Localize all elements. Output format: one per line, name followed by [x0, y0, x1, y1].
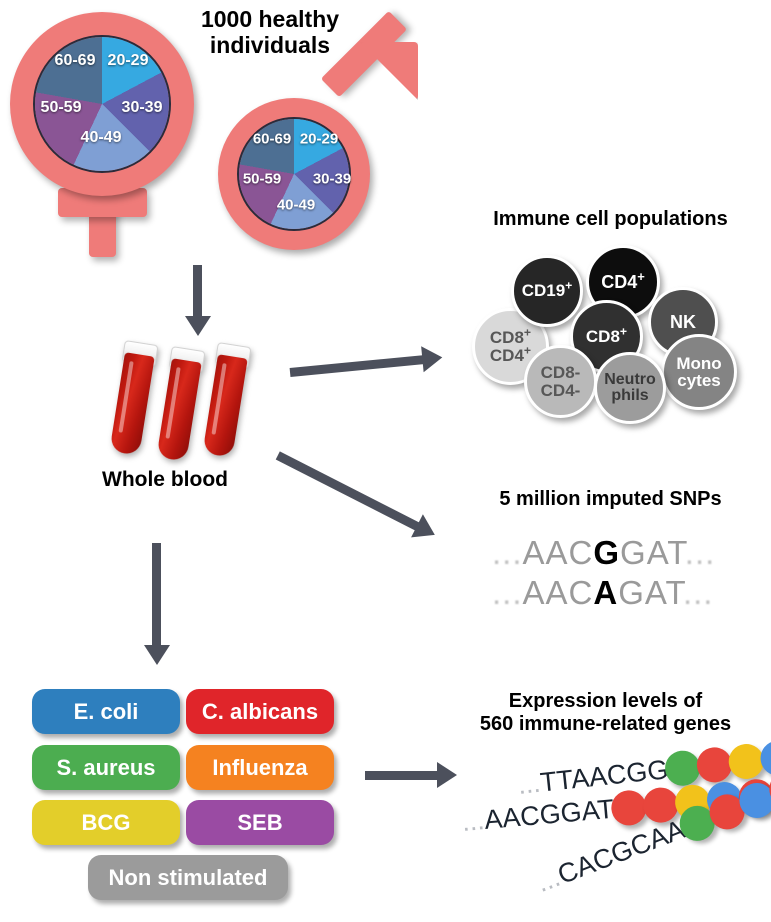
arrow-head [437, 762, 457, 788]
stimulus-bcg[interactable]: BCG [32, 800, 180, 845]
pie-label-50-59: 50-59 [243, 171, 281, 188]
cell-label: Monocytes [676, 355, 721, 390]
page-title: 1000 healthy individuals [170, 6, 370, 59]
pie-label-30-39: 30-39 [122, 99, 163, 117]
stimulus-label: BCG [82, 810, 131, 836]
rna-bases: AACGGAT [483, 794, 615, 835]
pie-label-60-69: 60-69 [55, 52, 96, 70]
arrow-head [144, 645, 170, 665]
pie-label-20-29: 20-29 [300, 131, 338, 148]
expression-title-line2: 560 immune-related genes [440, 713, 771, 736]
snp-pre: AAC [523, 574, 594, 611]
stimulus-influenza[interactable]: Influenza [186, 745, 334, 790]
stimulus-label: Influenza [212, 755, 307, 781]
expression-title-line1: Expression levels of [440, 690, 771, 713]
snp-sequence-row: ...AACGGAT... [492, 534, 715, 572]
page-title-line1: 1000 healthy [170, 6, 370, 32]
arrow-line [365, 771, 443, 780]
stimulus-label: E. coli [74, 699, 139, 725]
rna-sequence: ...AACGGAT [461, 794, 616, 838]
expression-section-title: Expression levels of 560 immune-related … [440, 690, 771, 736]
pie-label-40-49: 40-49 [81, 129, 122, 147]
stimulus-seb[interactable]: SEB [186, 800, 334, 845]
rna-bead [759, 739, 771, 777]
stimulus-label: SEB [237, 810, 282, 836]
cell-label: CD8-CD4- [541, 364, 581, 399]
cell-cd8-cd4-mm: CD8-CD4- [524, 345, 597, 418]
stimulus-label: C. albicans [202, 699, 318, 725]
stimulus-c-albicans[interactable]: C. albicans [186, 689, 334, 734]
stimulus-non-stimulated[interactable]: Non stimulated [88, 855, 288, 900]
arrow-line [290, 354, 429, 376]
whole-blood-label: Whole blood [80, 468, 250, 492]
snp-suffix: ... [683, 574, 714, 611]
pie-label-60-69: 60-69 [253, 131, 291, 148]
page-title-line2: individuals [170, 32, 370, 58]
snp-prefix: ... [492, 534, 523, 571]
cell-label: CD8+CD4+ [490, 329, 531, 364]
snp-allele: A [593, 574, 618, 611]
rna-prefix: ... [461, 805, 486, 837]
snp-allele: G [593, 534, 620, 571]
snp-sequence-row: ...AACAGAT... [492, 574, 713, 612]
arrow-line [153, 543, 162, 651]
blood-tube [109, 340, 156, 455]
snp-post: GAT [620, 534, 685, 571]
arrow-head [421, 344, 443, 372]
pie-label-40-49: 40-49 [277, 197, 315, 214]
stimulus-label: Non stimulated [109, 865, 268, 891]
cell-label: CD8+ [586, 328, 627, 345]
cell-monocytes: Monocytes [661, 334, 737, 410]
cell-label: CD19+ [522, 282, 573, 299]
arrow-line [194, 265, 203, 322]
cell-neutrophils: Neutrophils [594, 352, 666, 424]
blood-tube [202, 342, 249, 457]
cell-cd19: CD19+ [511, 255, 583, 327]
cell-label: Neutrophils [604, 372, 656, 405]
snp-post: GAT [618, 574, 683, 611]
rna-bead [609, 789, 647, 827]
stimulus-label: S. aureus [56, 755, 155, 781]
snp-section-title: 5 million imputed SNPs [450, 488, 771, 511]
rna-bead [727, 742, 765, 780]
immune-section-title: Immune cell populations [450, 208, 771, 231]
pie-label-30-39: 30-39 [313, 171, 351, 188]
snp-suffix: ... [685, 534, 716, 571]
arrow-line [276, 451, 424, 533]
pie-label-50-59: 50-59 [41, 99, 82, 117]
cell-label: NK [670, 313, 696, 331]
rna-prefix: ... [516, 768, 542, 800]
blood-tube [156, 346, 203, 461]
snp-prefix: ... [492, 574, 523, 611]
arrow-head [185, 316, 211, 336]
stimulus-e-coli[interactable]: E. coli [32, 689, 180, 734]
rna-bead [695, 746, 733, 784]
pie-label-20-29: 20-29 [108, 52, 149, 70]
male-symbol-arrowhead [360, 42, 418, 100]
cell-label: CD4+ [601, 273, 645, 291]
snp-pre: AAC [523, 534, 594, 571]
stimulus-s-aureus[interactable]: S. aureus [32, 745, 180, 790]
